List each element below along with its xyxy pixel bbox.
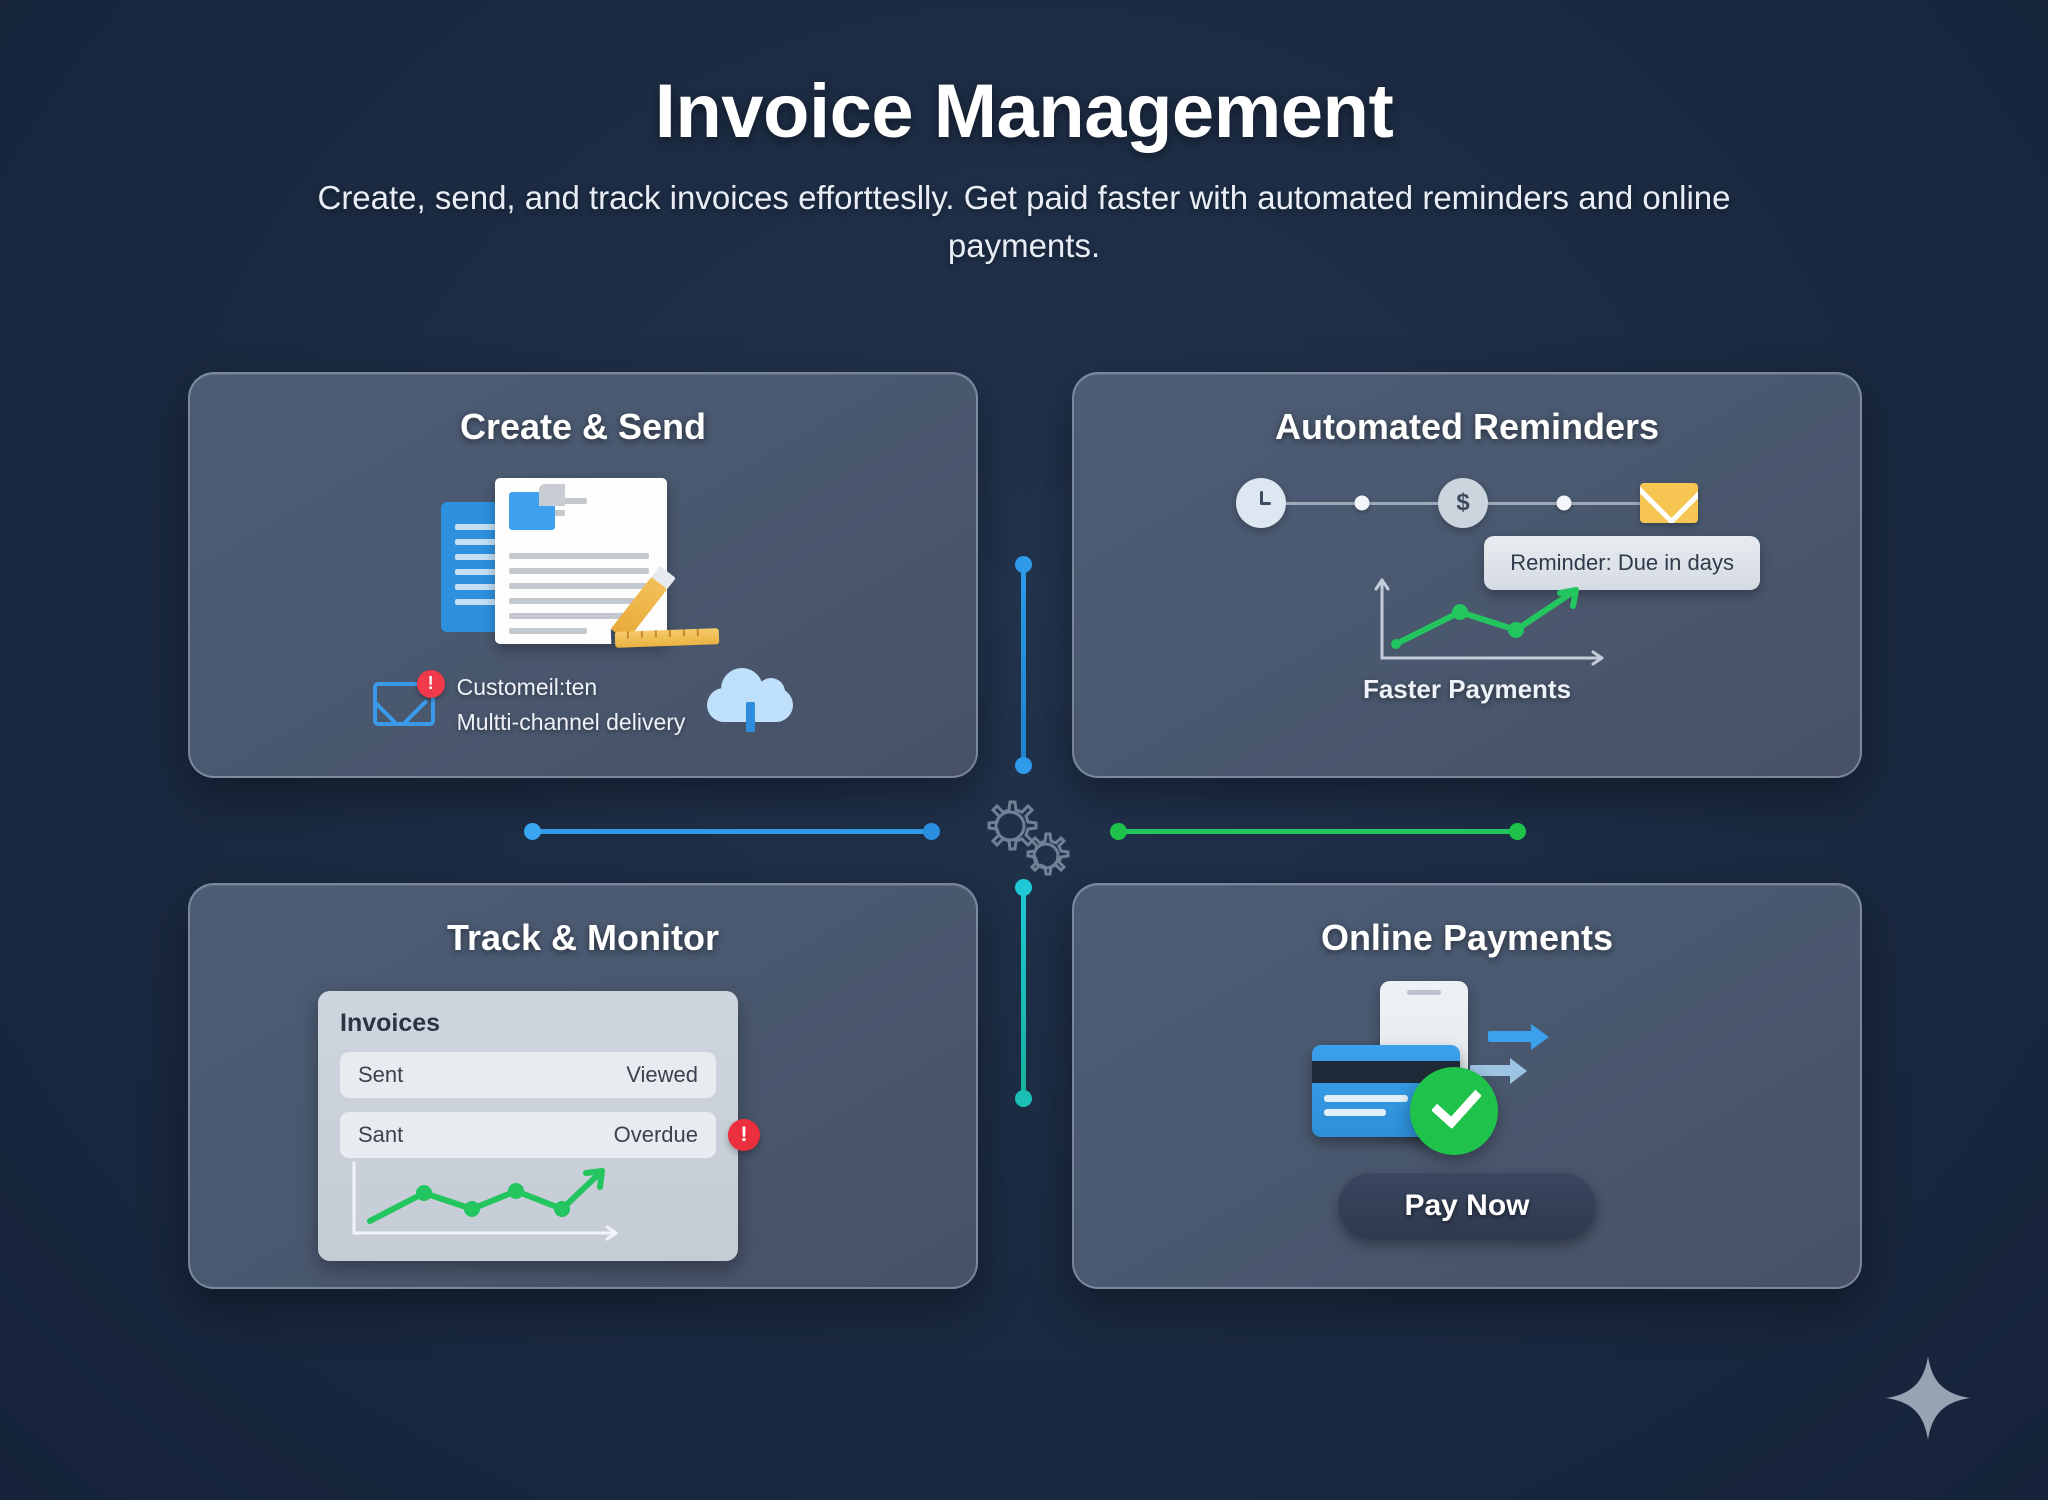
pay-now-button[interactable]: Pay Now <box>1338 1173 1595 1239</box>
delivery-line-1: Customeil:ten <box>457 670 686 705</box>
money-icon: $ <box>1438 478 1488 528</box>
card-automated-reminders[interactable]: Automated Reminders $ Reminder: Due in d… <box>1072 372 1862 778</box>
card-title-create-and-send: Create & Send <box>190 406 976 448</box>
timeline-dot-2 <box>1557 496 1572 511</box>
arrow-right-icon <box>1488 1031 1536 1042</box>
invoice-label: Sant <box>358 1122 403 1148</box>
card-title-track-and-monitor: Track & Monitor <box>190 917 976 959</box>
alert-icon: ! <box>728 1119 760 1151</box>
document-corner-fold <box>539 484 565 506</box>
status-badge: Viewed <box>626 1062 698 1088</box>
invoice-label: Sent <box>358 1062 403 1088</box>
gears-icon <box>968 790 1088 890</box>
page-subtitle: Create, send, and track invoices effortt… <box>274 174 1774 270</box>
card-number-line-2 <box>1324 1109 1386 1116</box>
connector-dot <box>1015 757 1032 774</box>
ruler-icon <box>615 628 719 648</box>
connector-dot <box>524 823 541 840</box>
card-title-automated-reminders: Automated Reminders <box>1074 406 1860 448</box>
clock-icon <box>1236 478 1286 528</box>
chart-caption-faster-payments: Faster Payments <box>1074 674 1860 705</box>
connector-left-horizontal <box>532 829 932 834</box>
card-title-online-payments: Online Payments <box>1074 917 1860 959</box>
card-track-and-monitor[interactable]: Track & Monitor Invoices Sent Viewed San… <box>188 883 978 1289</box>
connector-right-horizontal <box>1118 829 1518 834</box>
invoices-panel: Invoices Sent Viewed Sant Overdue ! <box>318 991 738 1261</box>
sparkle-icon <box>1882 1352 1974 1444</box>
table-row[interactable]: Sant Overdue ! <box>340 1112 716 1158</box>
invoice-document-icon <box>433 472 733 652</box>
mail-icon <box>1640 483 1698 523</box>
connector-dot <box>923 823 940 840</box>
connector-bottom-vertical <box>1021 888 1026 1098</box>
connector-dot <box>1509 823 1526 840</box>
card-number-line-1 <box>1324 1095 1408 1102</box>
envelope-badge: ! <box>417 670 445 698</box>
connector-dot <box>1110 823 1127 840</box>
timeline-segment-2 <box>1488 502 1640 505</box>
timeline-segment-1 <box>1286 502 1438 505</box>
timeline-dot-1 <box>1355 496 1370 511</box>
page-header: Invoice Management Create, send, and tra… <box>0 0 2048 269</box>
table-row[interactable]: Sent Viewed <box>340 1052 716 1098</box>
card-create-and-send[interactable]: Create & Send <box>188 372 978 778</box>
delivery-text: Customeil:ten Multti-channel delivery <box>457 670 686 739</box>
faster-payments-chart <box>1364 574 1614 674</box>
payment-illustration <box>1302 981 1632 1151</box>
connector-dot <box>1015 1090 1032 1107</box>
card-online-payments[interactable]: Online Payments Pay Now <box>1072 883 1862 1289</box>
delivery-summary: ! Customeil:ten Multti-channel delivery <box>190 670 976 739</box>
check-circle-icon <box>1410 1067 1498 1155</box>
invoice-trend-chart <box>340 1157 680 1247</box>
invoices-panel-title: Invoices <box>340 1009 716 1038</box>
cloud-upload-icon <box>707 678 793 732</box>
connector-top-vertical <box>1021 565 1026 765</box>
page-title: Invoice Management <box>0 72 2048 152</box>
envelope-icon: ! <box>373 682 435 728</box>
reminder-timeline: $ <box>1074 478 1860 528</box>
status-badge: Overdue <box>614 1122 698 1148</box>
connector-dot <box>1015 556 1032 573</box>
delivery-line-2: Multti-channel delivery <box>457 705 686 740</box>
